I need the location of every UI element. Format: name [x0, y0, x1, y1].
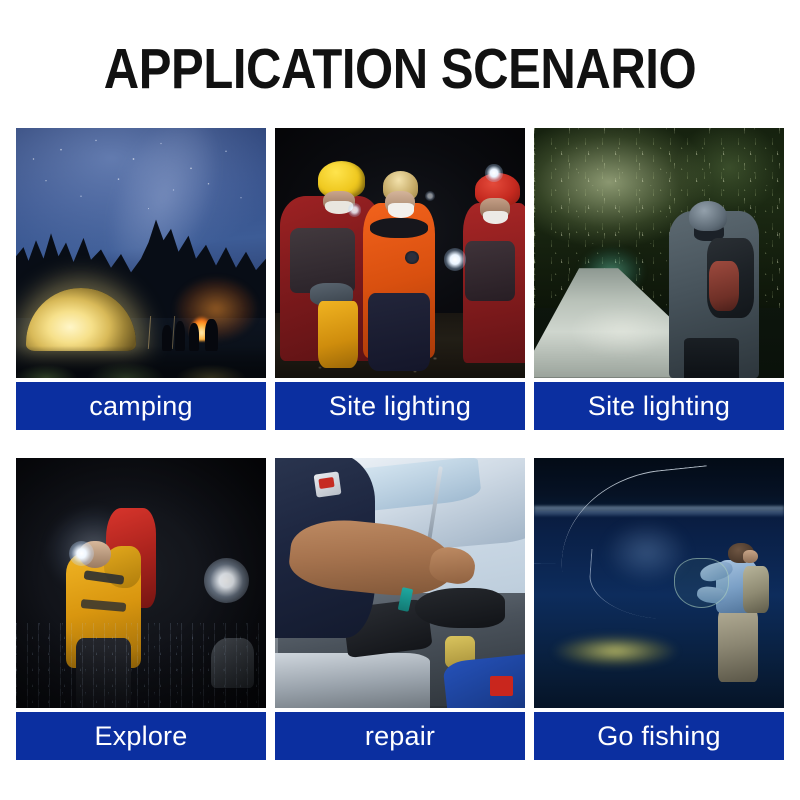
rescuer-right-vest — [465, 241, 515, 301]
fishing-scene-illustration — [534, 458, 784, 708]
scenario-photo-site-lighting-rescue — [275, 128, 525, 378]
scenario-photo-repair — [275, 458, 525, 708]
scenario-card-site-lighting-trail[interactable]: Site lighting — [534, 128, 784, 430]
application-scenario-page: APPLICATION SCENARIO — [0, 0, 800, 800]
engine-hose — [415, 588, 505, 628]
headlamp-light-icon — [348, 203, 362, 217]
scenario-caption-site-lighting-trail: Site lighting — [534, 382, 784, 430]
vignette — [16, 458, 266, 708]
camping-scene-illustration — [16, 128, 266, 378]
walker-head-with-cap — [689, 201, 727, 231]
headlamp-light-icon — [425, 191, 435, 201]
walker-legs — [684, 338, 739, 378]
uniform-patch-logo — [318, 477, 334, 489]
scenario-grid: camping — [16, 128, 784, 760]
scenario-caption-explore: Explore — [16, 712, 266, 760]
explore-scene-illustration — [16, 458, 266, 708]
scenario-caption-site-lighting-rescue: Site lighting — [275, 382, 525, 430]
scenario-card-site-lighting-rescue[interactable]: Site lighting — [275, 128, 525, 430]
page-title: APPLICATION SCENARIO — [56, 38, 744, 100]
rescue-crew-scene-illustration — [275, 128, 525, 378]
scenario-card-repair[interactable]: repair — [275, 458, 525, 760]
far-bank-highlight — [534, 506, 784, 516]
repair-scene-illustration — [275, 458, 525, 708]
landing-net — [674, 558, 729, 608]
rescuer-middle-legs — [368, 293, 431, 371]
far-treeline — [534, 458, 784, 511]
angler-face — [743, 550, 758, 563]
scenario-photo-site-lighting-trail — [534, 128, 784, 378]
scenario-card-camping[interactable]: camping — [16, 128, 266, 430]
headlamp-light-icon — [444, 248, 467, 271]
forest-path-scene-illustration — [534, 128, 784, 378]
scenario-card-explore[interactable]: Explore — [16, 458, 266, 760]
yellow-rescue-bag — [318, 301, 358, 369]
rescuer-middle-collar — [370, 218, 428, 238]
backpack-red-panel — [709, 261, 739, 311]
scenario-card-go-fishing[interactable]: Go fishing — [534, 458, 784, 760]
underwater-light-pool — [544, 631, 699, 671]
face-mask-icon — [388, 203, 414, 218]
headlamp-light-icon — [485, 164, 503, 182]
scenario-caption-go-fishing: Go fishing — [534, 712, 784, 760]
angler-backpack — [743, 566, 769, 612]
scenario-caption-repair: repair — [275, 712, 525, 760]
scenario-caption-camping: camping — [16, 382, 266, 430]
suit-badge — [405, 251, 419, 265]
scenario-photo-go-fishing — [534, 458, 784, 708]
engine-cover — [275, 653, 430, 708]
scenario-photo-camping — [16, 128, 266, 378]
scenario-photo-explore — [16, 458, 266, 708]
angler-waders — [718, 607, 759, 682]
face-mask-icon — [483, 211, 508, 225]
foreground-brush — [16, 346, 266, 379]
fender-cover-logo — [490, 676, 513, 696]
